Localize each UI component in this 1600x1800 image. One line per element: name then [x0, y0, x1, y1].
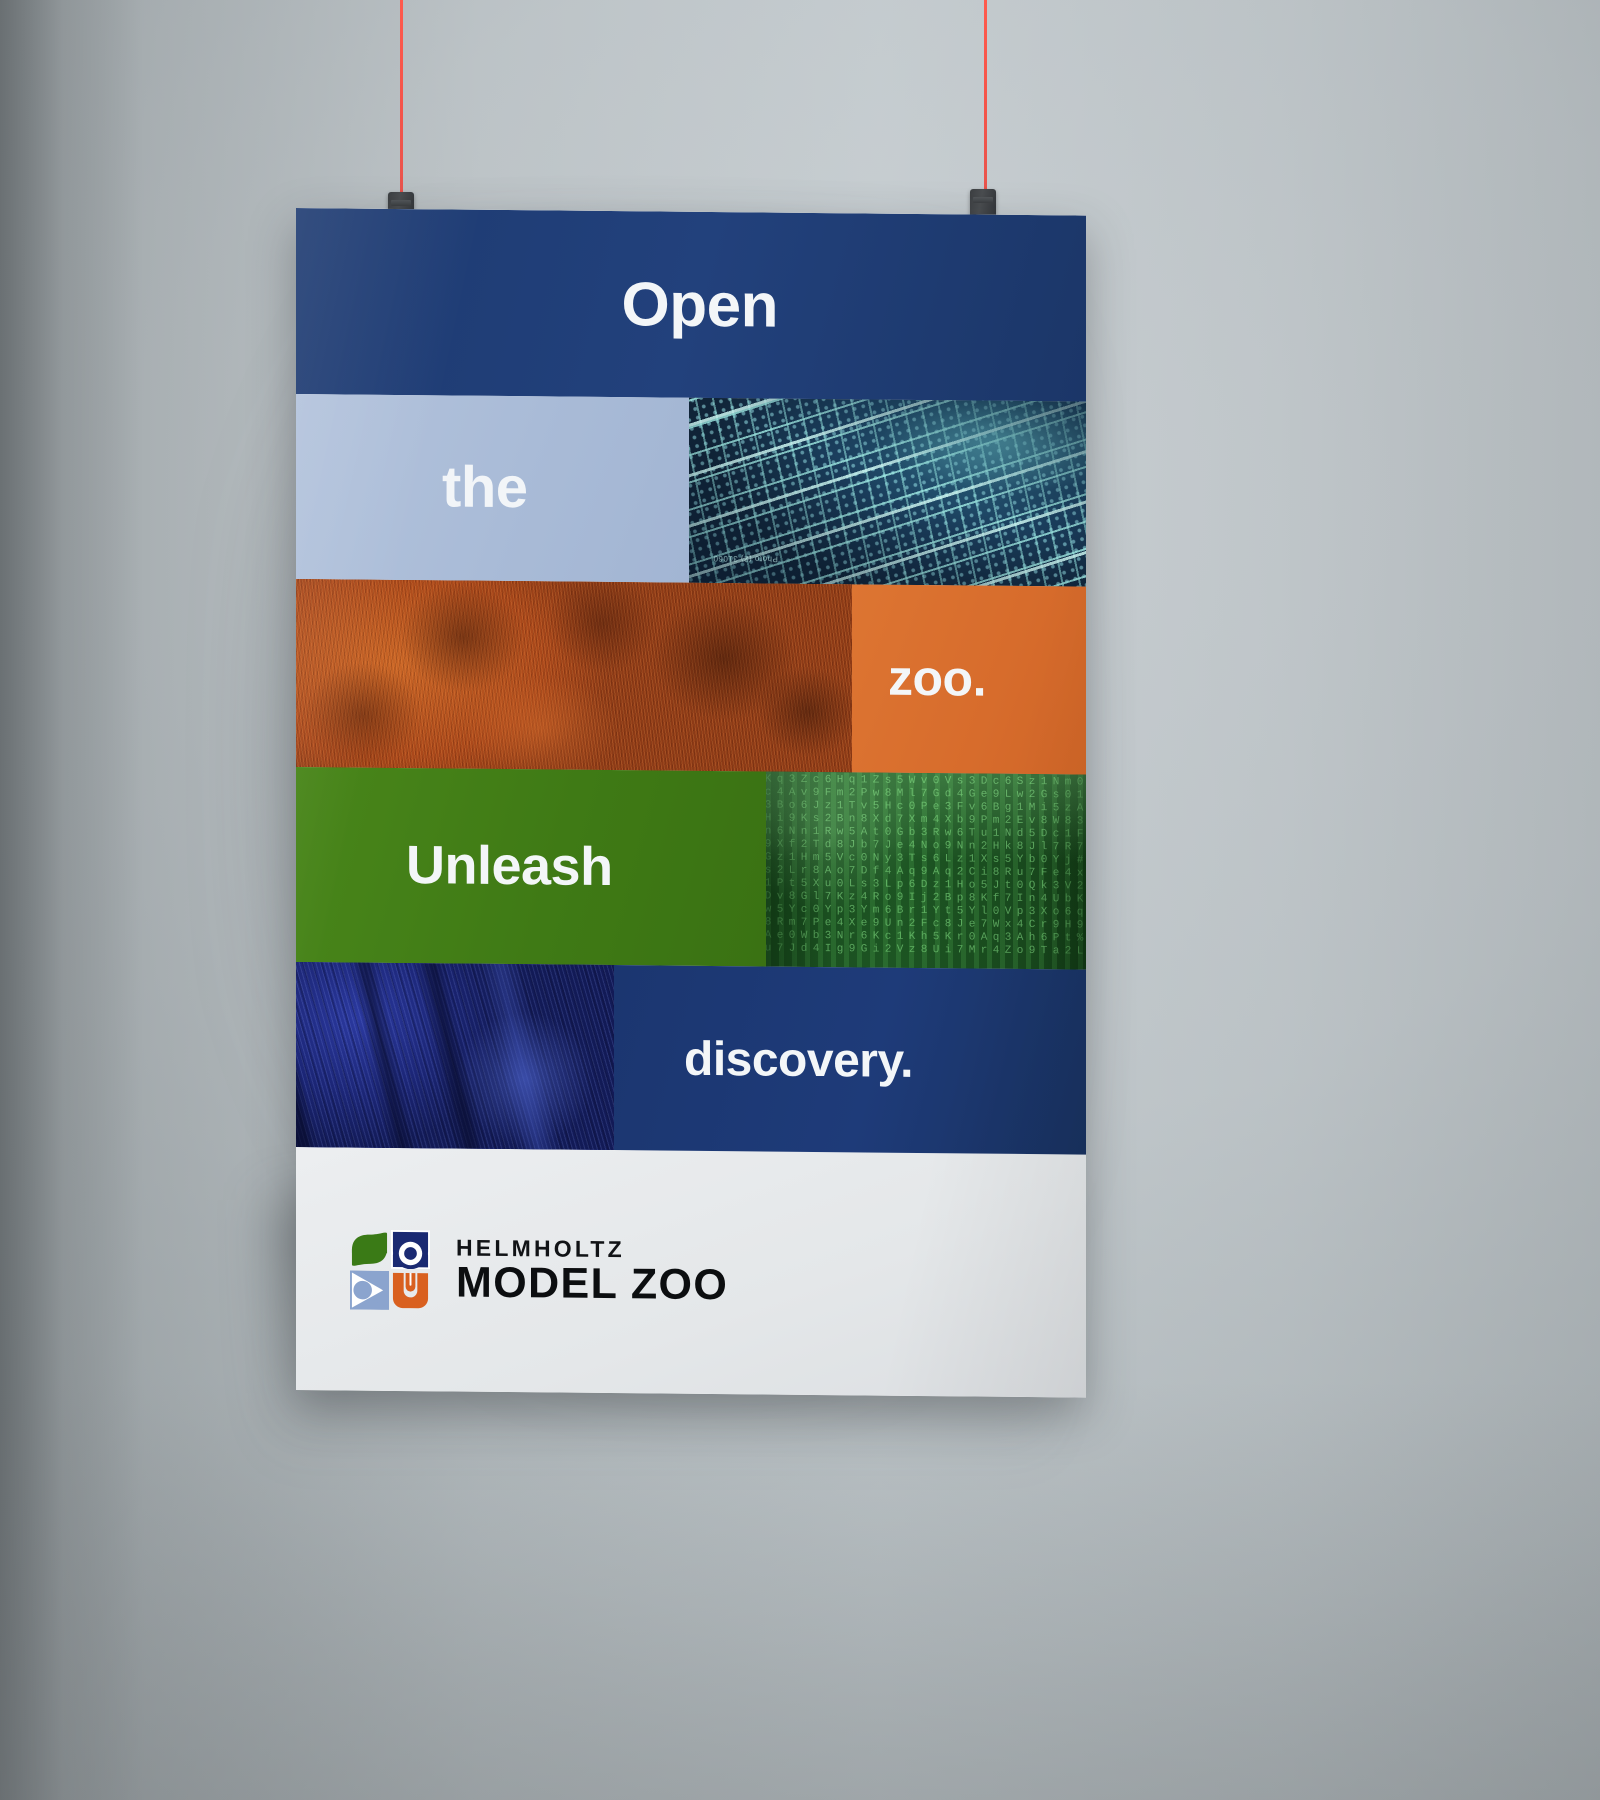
binder-clip-right-bar: [973, 197, 993, 203]
headline-word-discovery: discovery.: [684, 1032, 913, 1089]
band-zoo-orange-panel: zoo.: [852, 584, 1086, 774]
poster-band-discovery: discovery.: [296, 962, 1086, 1155]
brand-model-zoo: MODEL ZOO: [456, 1261, 728, 1307]
leaf-glyph: [350, 1229, 389, 1268]
binder-clip-left-bar: [391, 200, 411, 206]
wall-left-shading: [0, 0, 140, 1800]
eye-circle-glyph: [391, 1229, 430, 1268]
orange-fur-image: [296, 579, 852, 772]
headline-word-zoo: zoo.: [888, 649, 986, 708]
band-unleash-green-panel: Unleash: [296, 767, 766, 967]
band-discovery-navy-panel: discovery.: [614, 965, 1086, 1155]
poster-band-open: Open: [296, 208, 1086, 402]
feather-texture: [296, 962, 614, 1150]
matrix-texture: 01A3F7#x2Kq9%Lm0z81Rj4Vb6Ht2Ns5Wc7Ye3Uo9…: [766, 772, 1086, 970]
matrix-light-streak: [766, 772, 1086, 970]
headline-word-unleash: Unleash: [406, 834, 613, 898]
poster: Open the Photo (2) 31060: [296, 208, 1086, 1398]
circuit-texture: Photo (2) 31060: [689, 398, 1086, 587]
matrix-code-image: 01A3F7#x2Kq9%Lm0z81Rj4Vb6Ht2Ns5Wc7Ye3Uo9…: [766, 772, 1086, 970]
tulip-glyph-svg: [391, 1270, 430, 1309]
circuit-microtext: Photo (2) 31060: [713, 554, 778, 564]
eye-circle-glyph-svg: [391, 1229, 430, 1268]
circuit-board-image: Photo (2) 31060: [689, 398, 1086, 587]
blue-feather-image: [296, 962, 614, 1150]
band-open-navy-panel: Open: [296, 208, 1086, 402]
poster-band-the: the Photo (2) 31060: [296, 394, 1086, 587]
poster-band-unleash: Unleash 01A3F7#x2Kq9%Lm0z81Rj4Vb6Ht2Ns5W…: [296, 767, 1086, 970]
leaf-glyph-svg: [350, 1229, 389, 1268]
poster-footer: HELMHOLTZ MODEL ZOO: [296, 1147, 1086, 1398]
brand-wordmark: HELMHOLTZ MODEL ZOO: [456, 1236, 728, 1307]
triangle-circle-glyph-svg: [350, 1270, 389, 1309]
brand-helmholtz: HELMHOLTZ: [456, 1236, 728, 1262]
headline-word-open: Open: [622, 269, 778, 342]
hanging-string-left: [400, 0, 403, 200]
poster-band-zoo: zoo.: [296, 579, 1086, 775]
hanging-string-right: [984, 0, 987, 196]
fur-clumps-layer: [296, 579, 852, 772]
band-the-lightblue-panel: the: [296, 394, 689, 583]
headline-word-the: the: [442, 453, 528, 521]
feather-quills-layer: [296, 962, 614, 1150]
brand-lockup: HELMHOLTZ MODEL ZOO: [350, 1229, 728, 1313]
helmholtz-model-zoo-logo-mark: [350, 1229, 430, 1310]
fur-texture: [296, 579, 852, 772]
triangle-circle-glyph: [350, 1270, 389, 1309]
mockup-scene: Open the Photo (2) 31060: [0, 0, 1600, 1800]
tulip-glyph: [391, 1270, 430, 1309]
